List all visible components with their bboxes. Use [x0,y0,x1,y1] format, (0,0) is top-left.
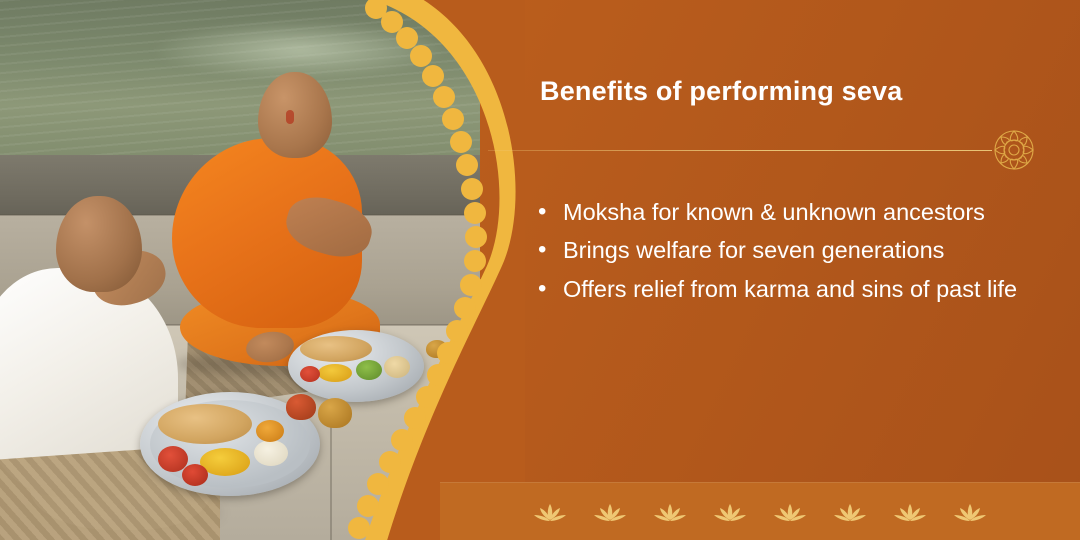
devotee-white-head [56,196,142,292]
lotus-ornament [533,501,567,523]
monk-saffron-tilak [286,110,294,124]
laddu-lower [256,420,284,442]
mandala-ornament [986,122,1042,178]
lotus-ornament [593,501,627,523]
lotus-ornament [833,501,867,523]
slide: Benefits of performing seva [0,0,1080,540]
tomato-lower-2 [182,464,208,486]
benefits-list: Moksha for known & unknown ancestors Bri… [532,196,1052,311]
lotus-ornament [953,501,987,523]
roti-lower [158,404,252,444]
lotus-ornament [773,501,807,523]
list-item: Brings welfare for seven generations [532,234,1052,267]
page-title: Benefits of performing seva [540,76,1060,107]
monk-saffron-head [258,72,332,158]
list-item: Offers relief from karma and sins of pas… [532,273,1052,306]
tomato-upper [300,366,320,382]
chutney-bowl [286,394,316,420]
title-divider-rule [488,150,992,151]
content-panel: Benefits of performing seva [492,0,1080,540]
list-item: Moksha for known & unknown ancestors [532,196,1052,229]
paneer-lower [254,440,288,466]
bottom-ornament-band [440,482,1080,540]
lotus-ornament [653,501,687,523]
lotus-ornament [713,501,747,523]
lotus-row [440,483,1080,540]
lotus-ornament [893,501,927,523]
